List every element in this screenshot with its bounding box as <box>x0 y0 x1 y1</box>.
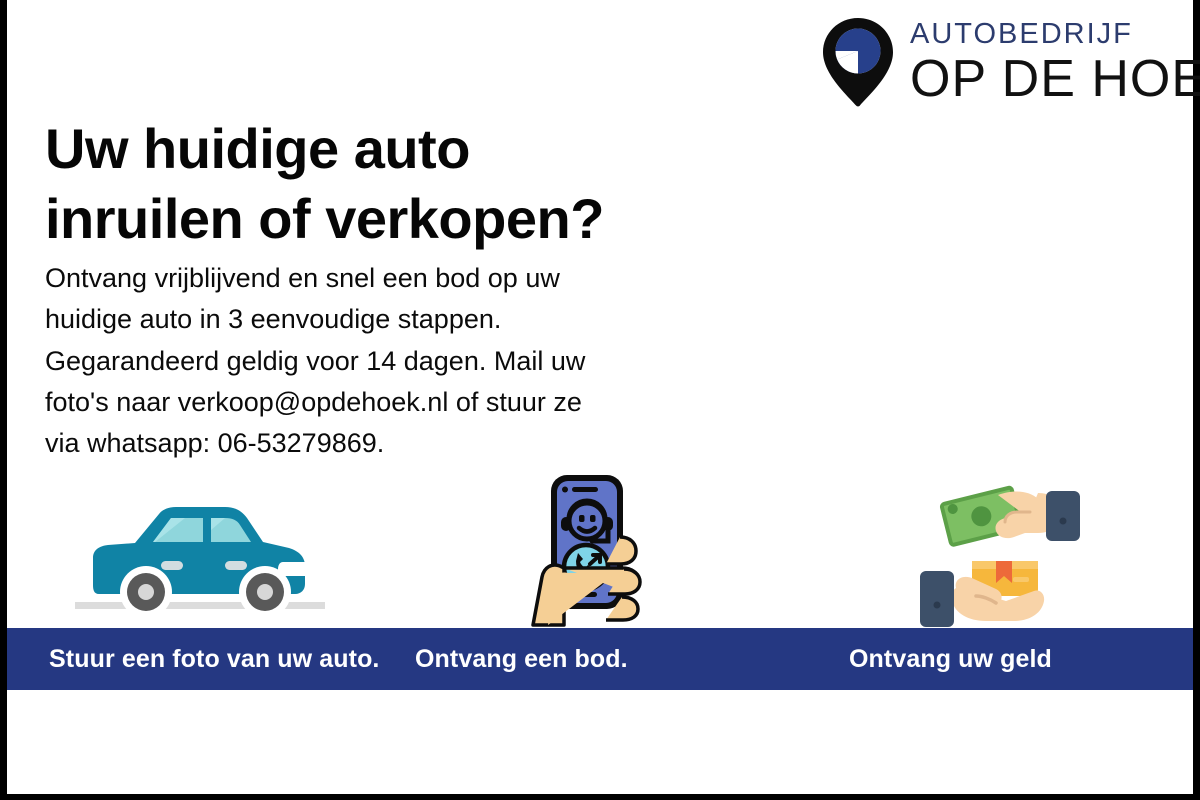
brand-name-bottom: OP DE HOEK <box>910 53 1200 105</box>
body-line-4: foto's naar verkoop@opdehoek.nl of stuur… <box>45 382 585 423</box>
body-paragraph: Ontvang vrijblijvend en snel een bod op … <box>45 258 585 464</box>
page-title: Uw huidige auto inruilen of verkopen? <box>45 114 604 254</box>
steps-icon-row <box>0 460 1200 630</box>
step-2-label: Ontvang een bod. <box>393 645 759 674</box>
headline-line-1: Uw huidige auto <box>45 114 604 184</box>
step-3-icon-cell <box>800 460 1200 630</box>
letterbox-edge-right <box>1193 0 1200 800</box>
step-1-icon-cell <box>0 460 400 630</box>
brand-name-top: AUTOBEDRIJF <box>910 20 1200 49</box>
step-1-label: Stuur een foto van uw auto. <box>7 645 393 674</box>
letterbox-edge-bottom <box>0 794 1200 800</box>
brand-logo: AUTOBEDRIJF OP DE HOEK <box>818 12 1200 108</box>
poster-canvas: AUTOBEDRIJF OP DE HOEK Uw huidige auto i… <box>0 0 1200 800</box>
body-line-2: huidige auto in 3 eenvoudige stappen. <box>45 299 585 340</box>
body-line-5: via whatsapp: 06-53279869. <box>45 423 585 464</box>
brand-wordmark: AUTOBEDRIJF OP DE HOEK <box>910 12 1200 105</box>
map-pin-icon <box>818 16 898 108</box>
body-line-3: Gegarandeerd geldig voor 14 dagen. Mail … <box>45 341 585 382</box>
phone-call-icon <box>520 465 680 630</box>
steps-label-band: Stuur een foto van uw auto. Ontvang een … <box>7 628 1193 690</box>
letterbox-edge-left <box>0 0 7 800</box>
money-exchange-icon <box>910 465 1090 630</box>
step-3-label: Ontvang uw geld <box>759 645 1193 674</box>
body-line-1: Ontvang vrijblijvend en snel een bod op … <box>45 258 585 299</box>
step-2-icon-cell <box>400 460 800 630</box>
car-icon <box>75 480 325 630</box>
headline-line-2: inruilen of verkopen? <box>45 184 604 254</box>
